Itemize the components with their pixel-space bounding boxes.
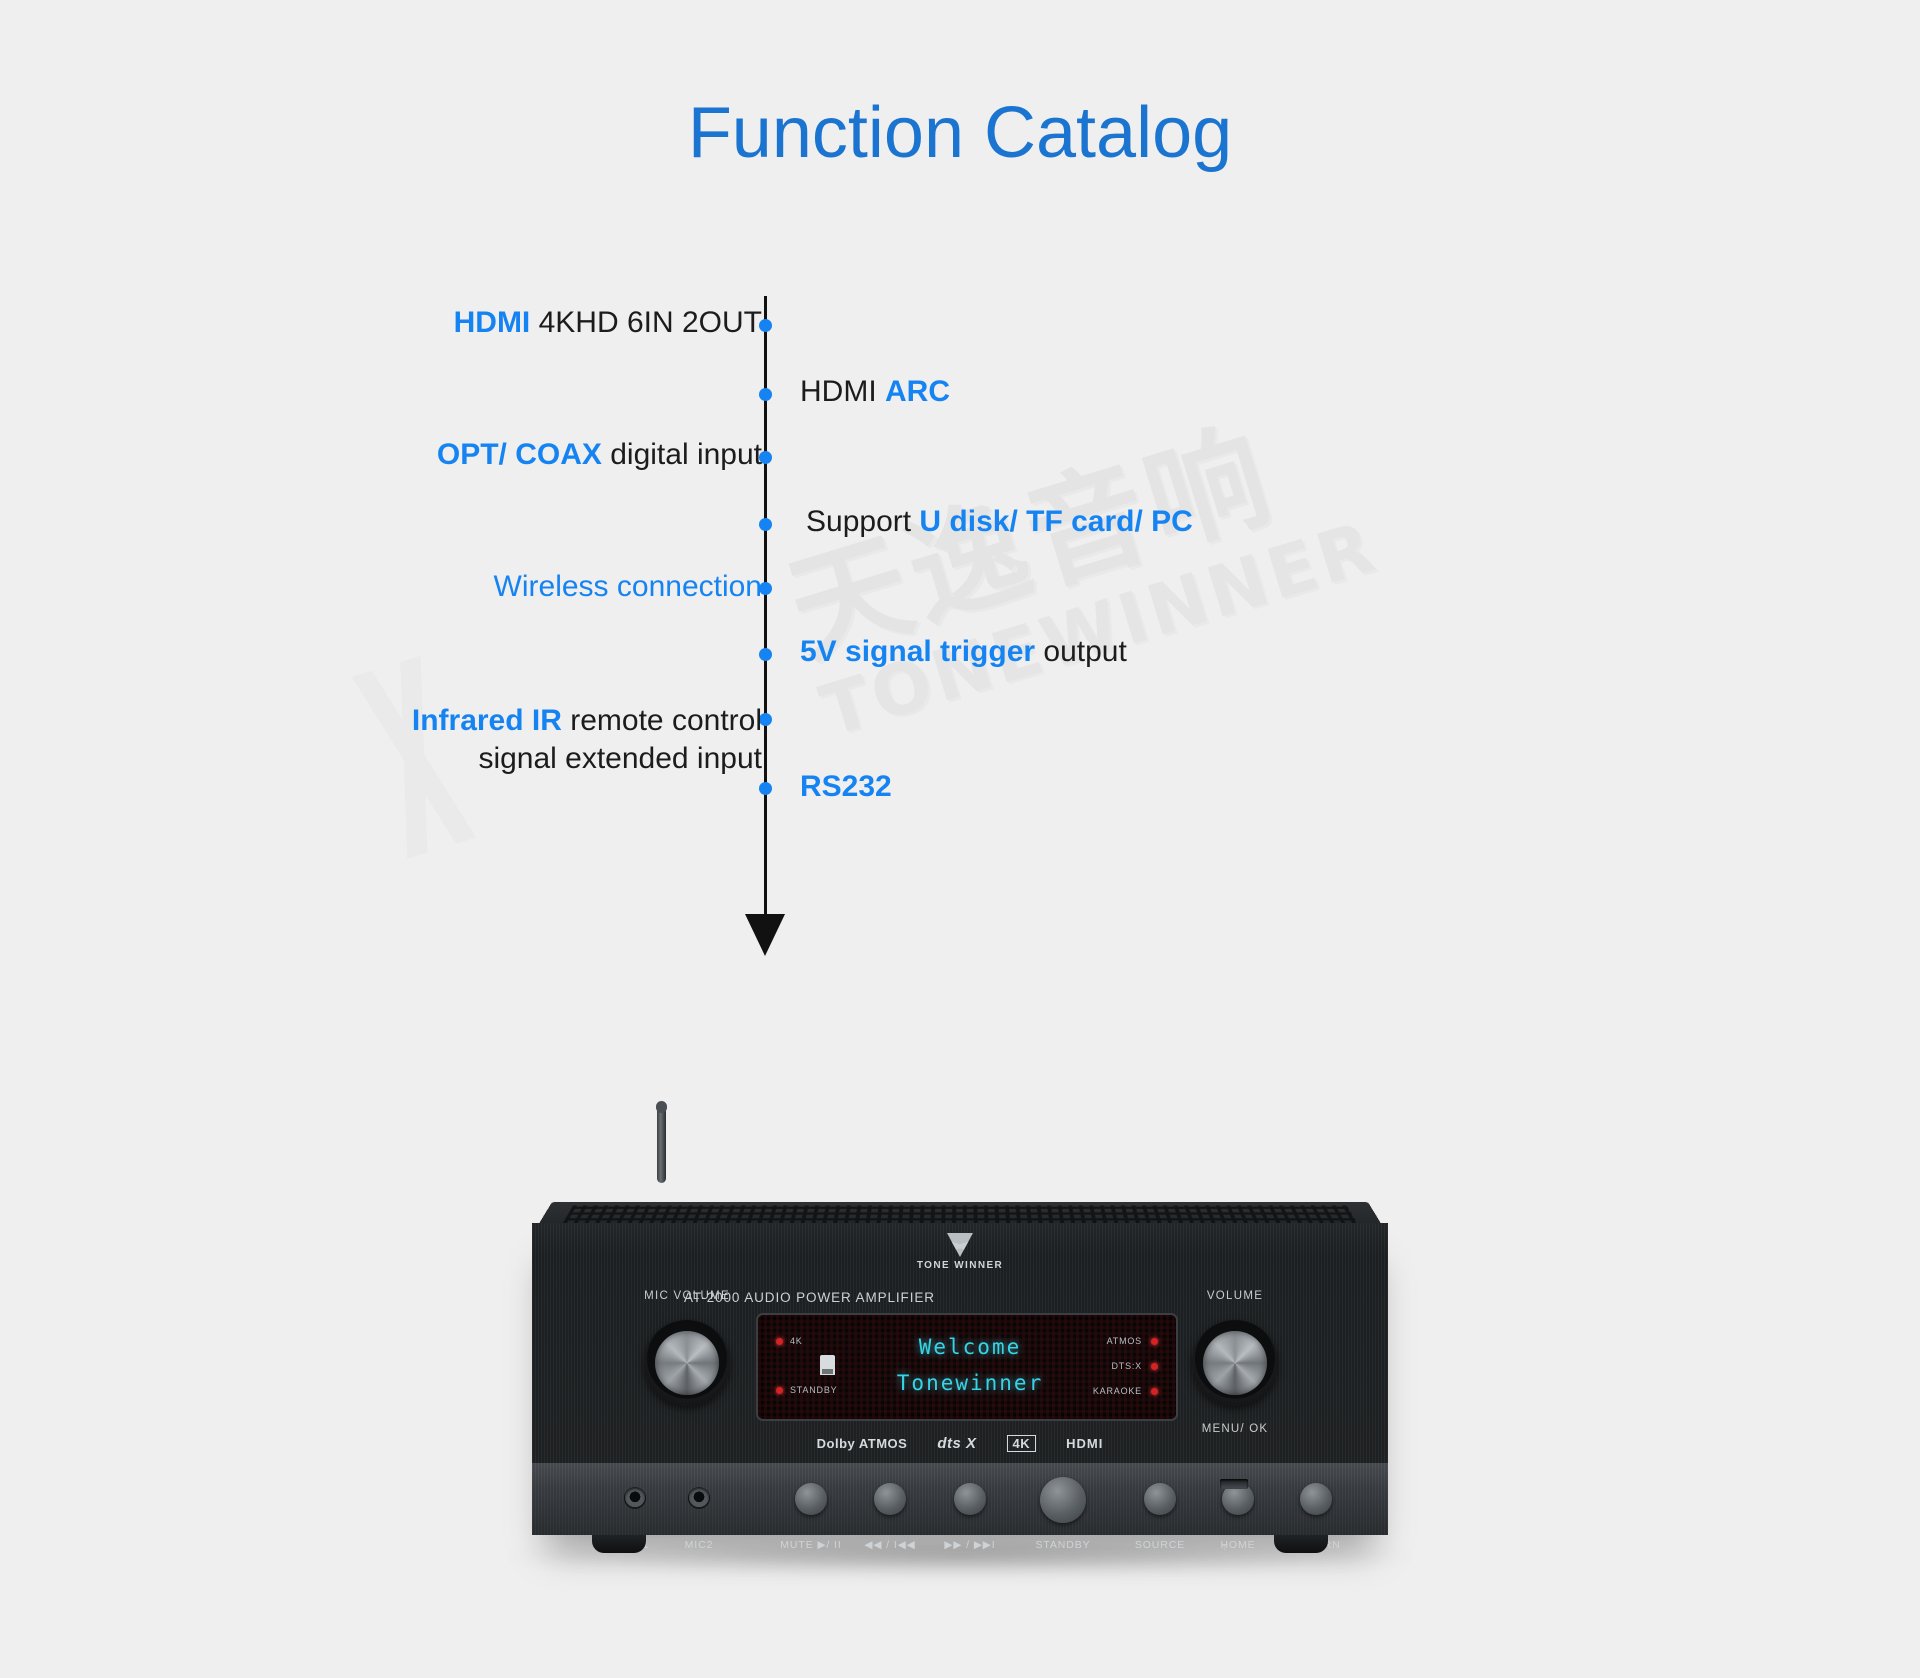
mic-knob-cap: [655, 1331, 719, 1395]
brand-name: TONE WINNER: [917, 1260, 1003, 1271]
watermark-chinese: 天逸音响: [777, 319, 1596, 672]
feature-opt-highlight: OPT/ COAX: [437, 438, 602, 471]
feature-label-wireless: Wireless connection: [494, 570, 762, 604]
tonewinner-logo-icon: [947, 1233, 973, 1257]
feature-hdmi-highlight: HDMI: [454, 306, 531, 339]
indicator-atmos: ATMOS: [1107, 1336, 1142, 1346]
mute-button[interactable]: [795, 1483, 827, 1515]
return-button[interactable]: [1300, 1483, 1332, 1515]
dts-x-logo-icon: dts X: [937, 1435, 976, 1452]
feature-arc-highlight: ARC: [885, 375, 950, 408]
feature-ir-line1: Infrared IR remote control: [412, 702, 762, 740]
hdmi-logo-icon: HDMI: [1066, 1436, 1103, 1451]
feature-hdmi-rest: 4KHD 6IN 2OUT: [530, 306, 762, 339]
display-line-2: Tonewinner: [844, 1365, 1096, 1401]
feature-wireless-highlight: Wireless connection: [494, 570, 762, 603]
feature-rs232-highlight: RS232: [800, 770, 892, 803]
standby-button[interactable]: [1040, 1477, 1086, 1523]
brand-logo: TONE WINNER: [917, 1233, 1003, 1271]
indicator-dtsx: DTS:X: [1111, 1361, 1142, 1371]
led-atmos: [1151, 1338, 1158, 1345]
feature-label-hdmi: HDMI 4KHD 6IN 2OUT: [454, 306, 762, 340]
timeline-dot-usb: [759, 518, 772, 531]
feature-arc-pre: HDMI: [800, 375, 885, 408]
display-line-1: Welcome: [844, 1329, 1096, 1365]
device-feet: [532, 1535, 1388, 1557]
indicator-4k: 4K: [790, 1336, 803, 1346]
mic1-jack[interactable]: [624, 1487, 646, 1509]
page-title: Function Catalog: [0, 92, 1920, 174]
mic2-jack[interactable]: [688, 1487, 710, 1509]
feature-label-rs232: RS232: [800, 770, 892, 804]
led-dtsx: [1151, 1363, 1158, 1370]
amplifier-product-image: TONE WINNER MIC VOLUME AT-2000 AUDIO POW…: [0, 1105, 1920, 1665]
volume-knob-cap: [1203, 1331, 1267, 1395]
timeline-arrowhead-icon: [745, 914, 785, 956]
feature-ir-highlight: Infrared IR: [412, 704, 562, 737]
feature-trigger-rest: output: [1035, 635, 1127, 668]
feature-opt-rest: digital input: [602, 438, 762, 471]
feature-usb-pre: Support: [806, 505, 919, 538]
sd-card-slot[interactable]: [1220, 1479, 1248, 1489]
mic-volume-knob[interactable]: [644, 1320, 730, 1406]
feature-ir-line2: signal extended input: [412, 740, 762, 778]
timeline-dot-rs232: [759, 782, 772, 795]
previous-button[interactable]: [874, 1483, 906, 1515]
timeline-dot-trigger: [759, 648, 772, 661]
dolby-atmos-logo-icon: Dolby ATMOS: [817, 1436, 908, 1451]
model-name: AT-2000 AUDIO POWER AMPLIFIER: [684, 1290, 935, 1305]
display-text: Welcome Tonewinner: [844, 1329, 1096, 1403]
feature-label-trigger: 5V signal trigger output: [800, 635, 1127, 669]
feature-usb-highlight: U disk/ TF card/ PC: [919, 505, 1192, 538]
next-button[interactable]: [954, 1483, 986, 1515]
volume-knob[interactable]: [1192, 1320, 1278, 1406]
led-standby: [776, 1387, 783, 1394]
timeline-dot-arc: [759, 388, 772, 401]
volume-label: VOLUME: [1207, 1290, 1263, 1302]
front-display: 4K STANDBY Welcome Tonewinner ATMOS DTS:…: [756, 1313, 1178, 1421]
menu-ok-label: MENU/ OK: [1202, 1423, 1268, 1435]
feature-ir-rest: remote control: [562, 704, 762, 737]
led-4k: [776, 1338, 783, 1345]
sd-card-icon: [820, 1355, 835, 1375]
led-karaoke: [1151, 1388, 1158, 1395]
indicator-standby: STANDBY: [790, 1385, 837, 1395]
feature-label-usb-support: Support U disk/ TF card/ PC: [806, 505, 1193, 539]
indicator-karaoke: KARAOKE: [1093, 1386, 1142, 1396]
feature-label-arc: HDMI ARC: [800, 375, 950, 409]
codec-logo-row: Dolby ATMOS dts X 4K HDMI: [532, 1435, 1388, 1452]
feature-label-infrared: Infrared IR remote control signal extend…: [412, 702, 762, 779]
4k-logo-icon: 4K: [1007, 1435, 1037, 1452]
source-button[interactable]: [1144, 1483, 1176, 1515]
foot-left: [592, 1535, 646, 1553]
wifi-antenna-icon: [657, 1105, 666, 1183]
foot-right: [1274, 1535, 1328, 1553]
watermark-english: TONEWINNER: [813, 440, 1618, 747]
feature-label-opt-coax: OPT/ COAX digital input: [437, 438, 762, 472]
amplifier-unit: TONE WINNER MIC VOLUME AT-2000 AUDIO POW…: [532, 1105, 1388, 1625]
device-lower-panel: MIC1 MIC2 MUTE ▶/ II ◀◀ / I◀◀ ▶▶ / ▶▶I S…: [532, 1463, 1388, 1535]
feature-trigger-highlight: 5V signal trigger: [800, 635, 1035, 668]
